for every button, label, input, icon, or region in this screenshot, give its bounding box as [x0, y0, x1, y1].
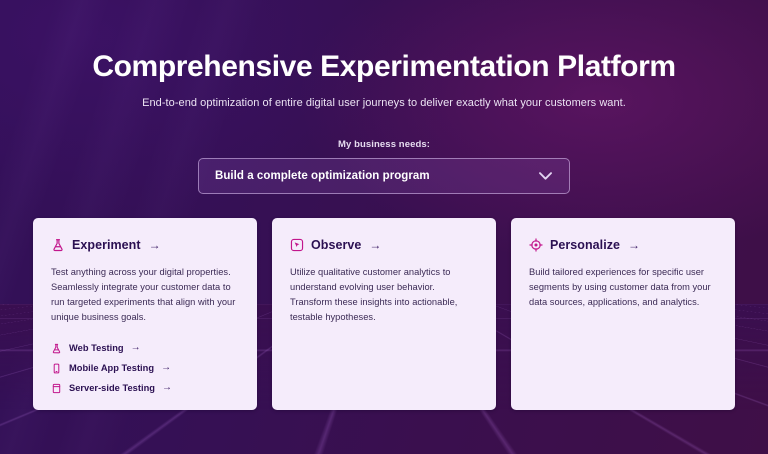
card-observe-header: Observe →: [290, 238, 478, 252]
card-experiment-title: Experiment: [72, 238, 141, 252]
card-experiment-header: Experiment →: [51, 238, 239, 252]
card-experiment-body: Test anything across your digital proper…: [51, 265, 239, 325]
card-personalize-body: Build tailored experiences for specific …: [529, 265, 717, 310]
link-server-side-testing[interactable]: Server-side Testing →: [51, 383, 239, 394]
link-web-testing-label: Web Testing: [69, 343, 124, 353]
page-content: Comprehensive Experimentation Platform E…: [0, 0, 768, 410]
card-observe[interactable]: Observe → Utilize qualitative customer a…: [272, 218, 496, 410]
business-needs-selected-value: Build a complete optimization program: [215, 170, 430, 182]
page-title: Comprehensive Experimentation Platform: [0, 0, 768, 85]
link-mobile-app-testing[interactable]: Mobile App Testing →: [51, 363, 239, 374]
link-web-testing-arrow-icon: →: [131, 343, 141, 353]
flask-icon: [51, 343, 62, 354]
target-crosshair-icon: [529, 238, 543, 252]
link-web-testing[interactable]: Web Testing →: [51, 343, 239, 354]
link-server-side-testing-label: Server-side Testing: [69, 383, 155, 393]
page-subtitle: End-to-end optimization of entire digita…: [0, 97, 768, 109]
chevron-down-icon: [536, 166, 555, 185]
page-root: Comprehensive Experimentation Platform E…: [0, 0, 768, 454]
card-personalize-arrow-icon: →: [628, 239, 640, 251]
card-observe-arrow-icon: →: [369, 239, 381, 251]
card-observe-body: Utilize qualitative customer analytics t…: [290, 265, 478, 325]
card-personalize[interactable]: Personalize → Build tailored experiences…: [511, 218, 735, 410]
business-needs-dropdown[interactable]: Build a complete optimization program: [198, 158, 570, 194]
card-experiment-arrow-icon: →: [149, 239, 161, 251]
business-needs-selector-group: My business needs: Build a complete opti…: [0, 139, 768, 194]
flask-icon: [51, 238, 65, 252]
link-mobile-app-testing-label: Mobile App Testing: [69, 363, 154, 373]
link-mobile-app-testing-arrow-icon: →: [161, 363, 171, 373]
card-experiment[interactable]: Experiment → Test anything across your d…: [33, 218, 257, 410]
business-needs-label: My business needs:: [338, 139, 430, 150]
card-observe-title: Observe: [311, 238, 361, 252]
card-personalize-header: Personalize →: [529, 238, 717, 252]
feature-cards: Experiment → Test anything across your d…: [0, 218, 768, 410]
server-icon: [51, 383, 62, 394]
cursor-square-icon: [290, 238, 304, 252]
link-server-side-testing-arrow-icon: →: [162, 383, 172, 393]
mobile-phone-icon: [51, 363, 62, 374]
card-experiment-links: Web Testing → Mobile App Testing →: [51, 343, 239, 394]
card-personalize-title: Personalize: [550, 238, 620, 252]
